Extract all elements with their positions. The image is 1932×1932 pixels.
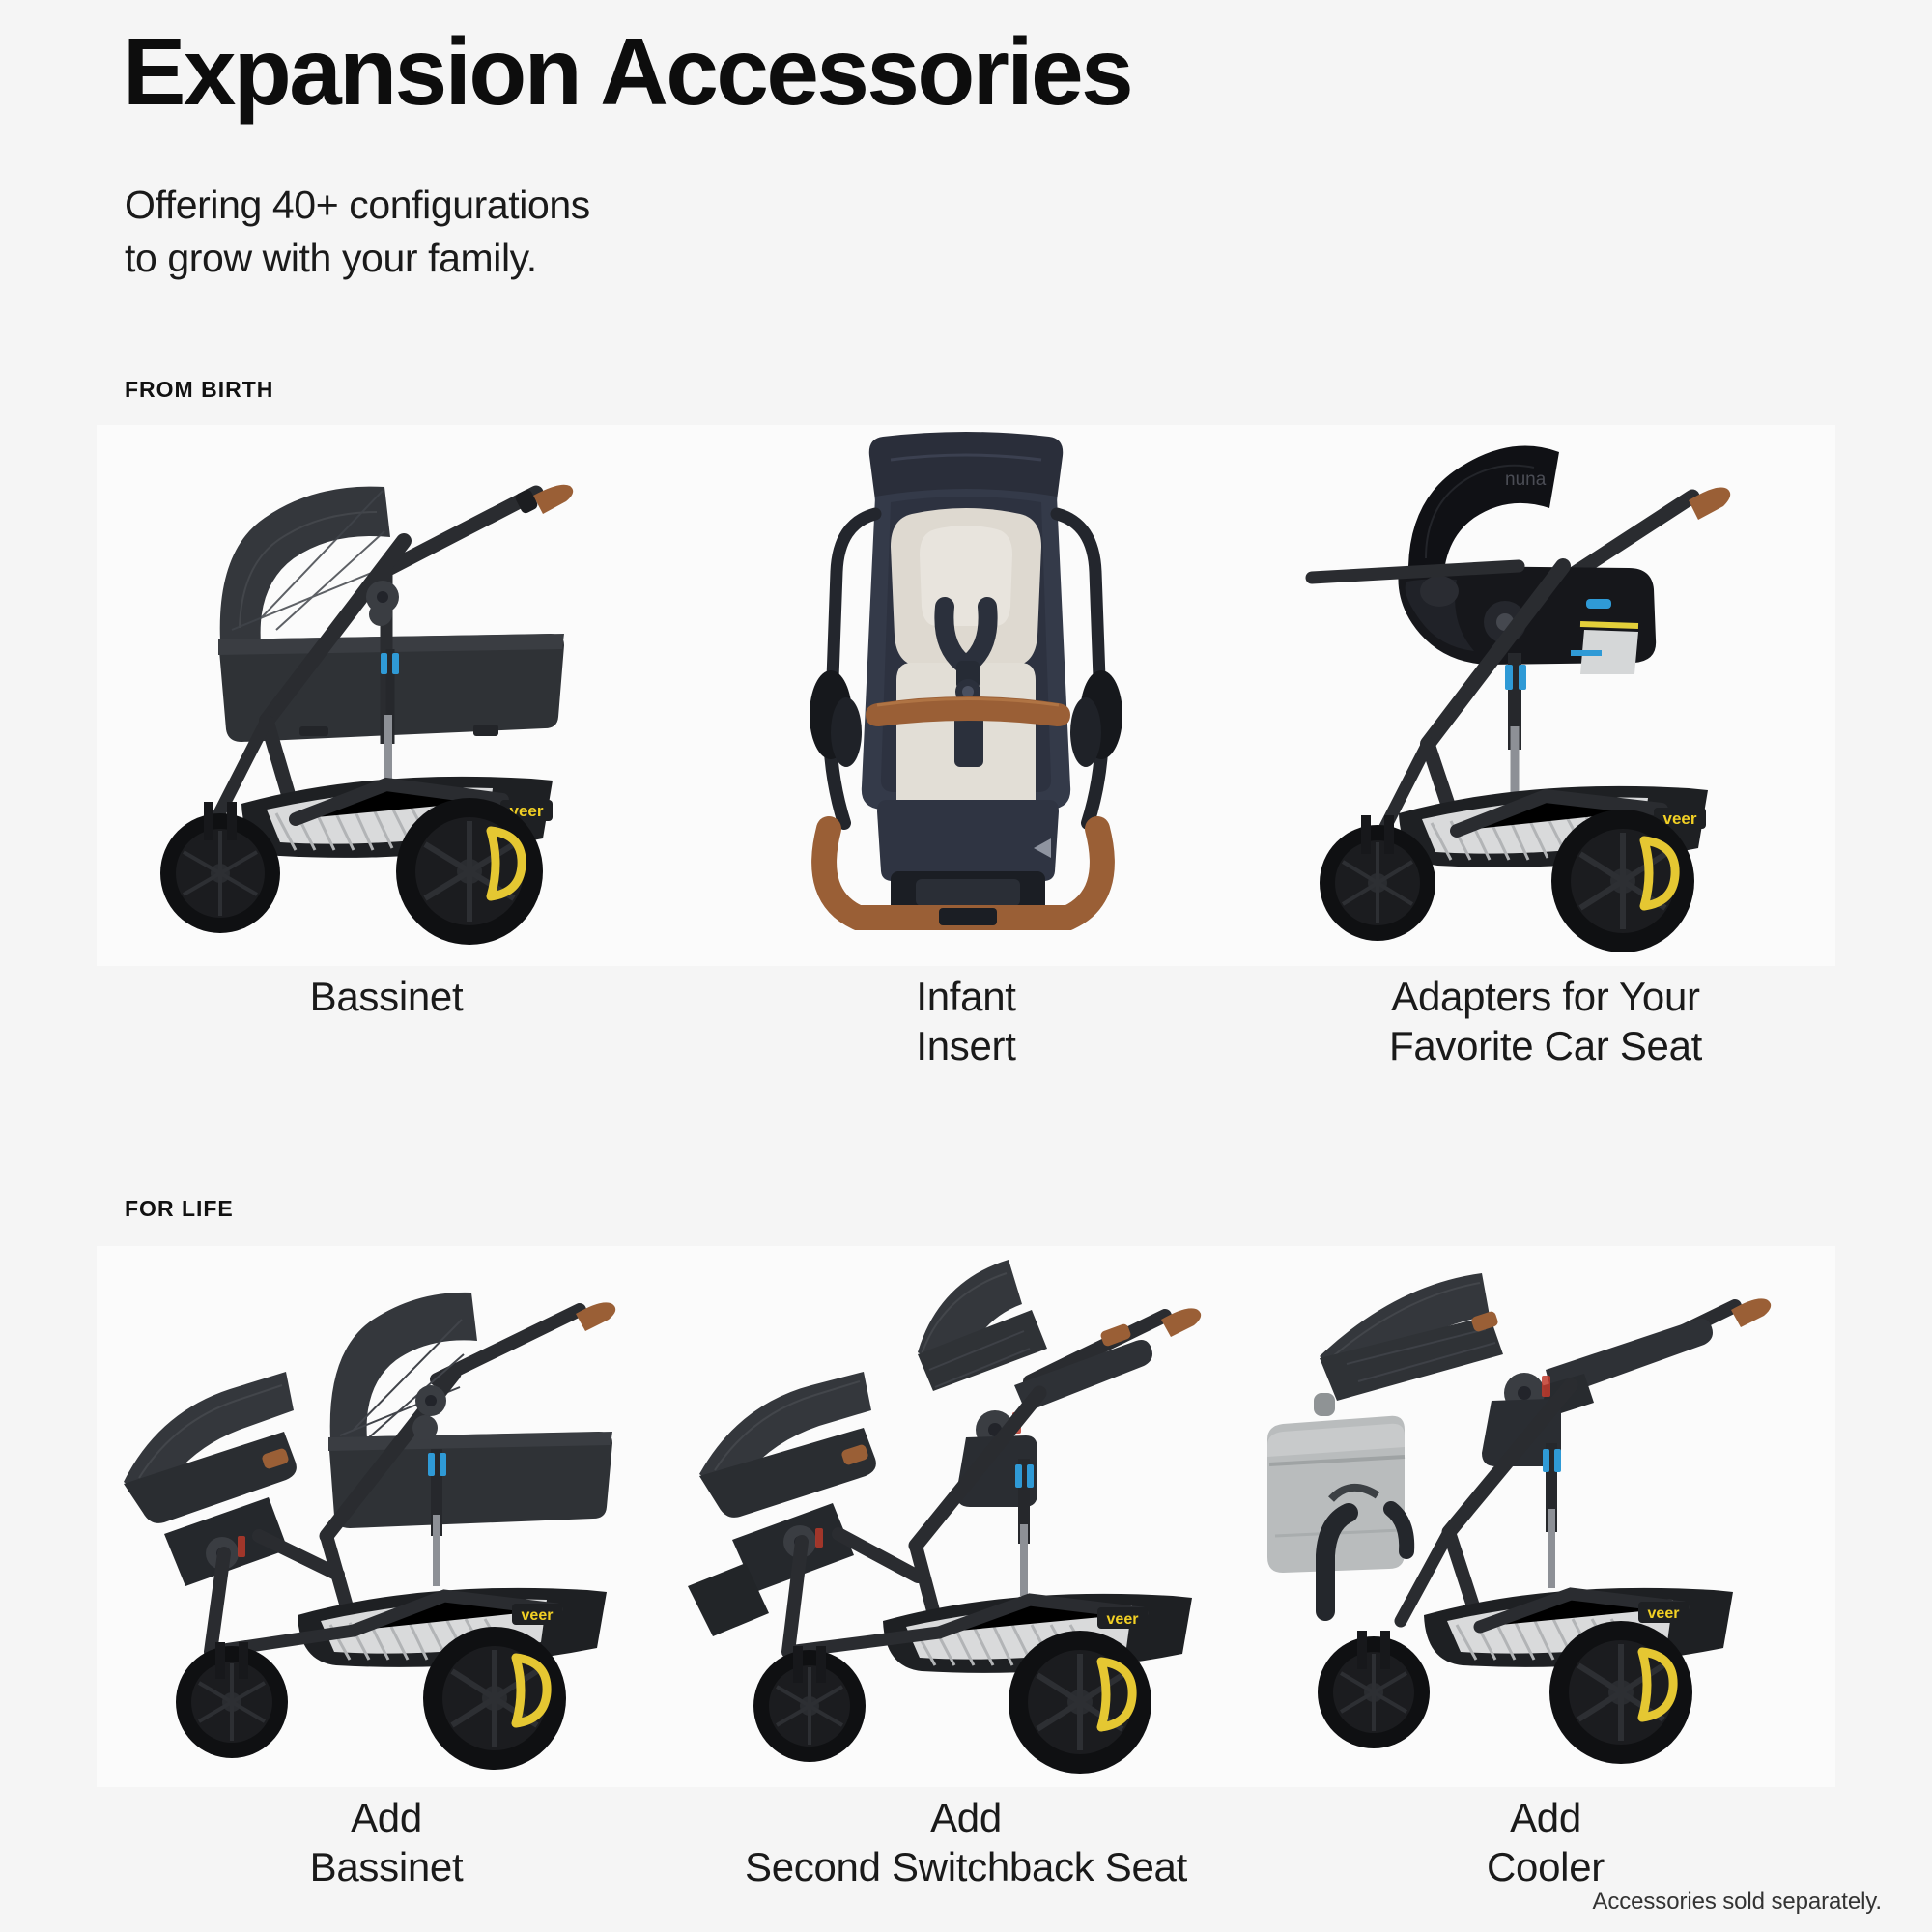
section-label-for-life: FOR LIFE [125,1196,234,1222]
infant-insert-illustration [676,425,1256,966]
stroller-car-seat-illustration: nuna [1256,425,1835,966]
page-title: Expansion Accessories [123,21,1131,124]
stroller-bassinet-illustration: veer [97,425,676,966]
page-subtitle: Offering 40+ configurations to grow with… [125,179,590,285]
accessory-caption: Add Second Switchback Seat [745,1793,1187,1891]
accessory-card-infant-insert[interactable]: Infant Insert [676,425,1256,1070]
accessories-page: Expansion Accessories Offering 40+ confi… [0,0,1932,1932]
stroller-cooler-illustration: veer [1256,1246,1835,1787]
accessory-caption: Add Bassinet [310,1793,464,1891]
accessory-caption: Adapters for Your Favorite Car Seat [1389,972,1702,1070]
accessory-card-second-seat[interactable]: veer [676,1246,1256,1891]
svg-text:veer: veer [1663,810,1697,828]
svg-text:veer: veer [1107,1611,1139,1628]
accessory-card-add-bassinet[interactable]: veer [97,1246,676,1891]
accessory-caption: Infant Insert [916,972,1015,1070]
svg-text:veer: veer [1648,1605,1680,1622]
svg-text:veer: veer [522,1607,554,1624]
accessory-card-bassinet[interactable]: veer [97,425,676,1070]
accessory-caption: Bassinet [310,972,464,1021]
section-for-life-grid: veer [97,1246,1835,1891]
section-label-from-birth: FROM BIRTH [125,377,273,403]
stroller-double-seat-illustration: veer [676,1246,1256,1787]
accessory-card-car-seat-adapters[interactable]: nuna [1256,425,1835,1070]
footnote-accessories-sold-separately: Accessories sold separately. [1592,1889,1882,1916]
subtitle-line-1: Offering 40+ configurations [125,179,590,232]
svg-text:nuna: nuna [1505,469,1547,490]
section-from-birth-grid: veer [97,425,1835,1070]
accessory-card-cooler[interactable]: veer [1256,1246,1835,1891]
stroller-double-bassinet-illustration: veer [97,1246,676,1787]
subtitle-line-2: to grow with your family. [125,232,590,285]
accessory-caption: Add Cooler [1487,1793,1605,1891]
